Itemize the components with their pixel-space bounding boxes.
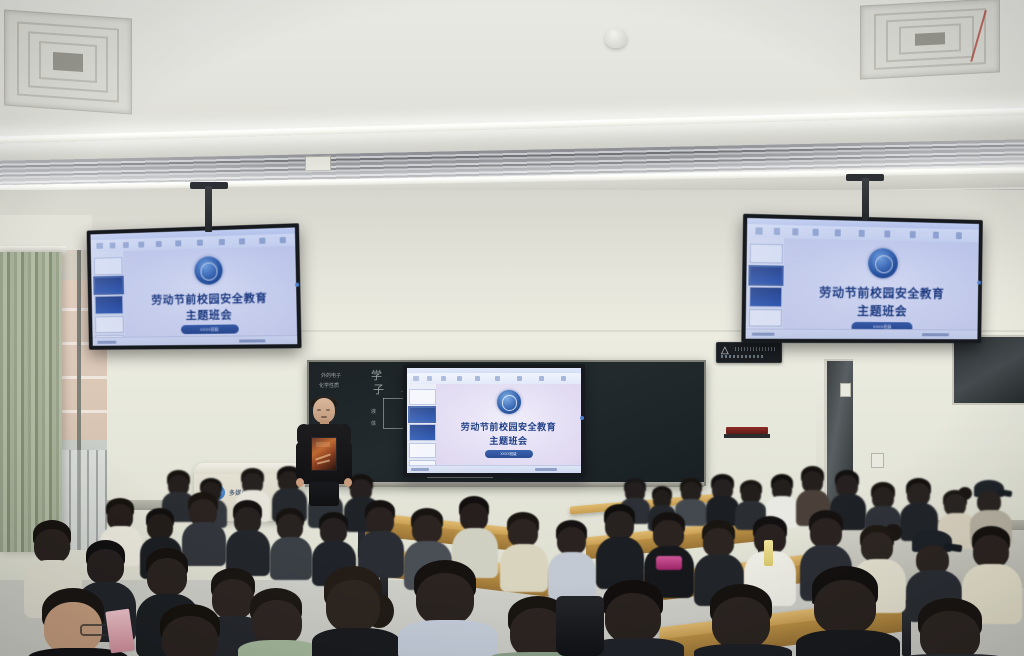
slide-thumb[interactable]: [94, 277, 123, 294]
slide-thumb[interactable]: [409, 389, 435, 405]
student: [500, 512, 546, 590]
powerpoint-status-bar-center: [407, 465, 581, 473]
display-screen-left[interactable]: 劳动节前校园安全教育 主题班会 XXXX班级: [87, 223, 302, 350]
student: [146, 604, 236, 656]
backpack: [556, 596, 604, 656]
university-emblem: [497, 390, 521, 414]
window-curtain: [0, 252, 62, 552]
student: [900, 478, 936, 538]
presenter: [295, 398, 353, 506]
powerpoint-status-bar-left: [93, 335, 298, 346]
slide-heading-line2: 主题班会: [783, 301, 978, 320]
slide-thumbnail-pane-right[interactable]: [746, 237, 785, 329]
student: [796, 566, 894, 656]
university-emblem: [194, 256, 222, 285]
slide-thumb[interactable]: [409, 443, 435, 458]
student: [312, 566, 396, 656]
student: [398, 560, 494, 656]
slide-heading-line1: 劳动节前校园安全教育: [436, 420, 581, 433]
student: [226, 500, 268, 574]
ceiling-access-panel: [305, 156, 331, 172]
slide-heading-line1: 劳动节前校园安全教育: [783, 283, 978, 302]
slide-heading-line2: 主题班会: [124, 305, 297, 324]
slide-thumb[interactable]: [749, 309, 782, 327]
slide-thumb[interactable]: [95, 316, 124, 333]
student: [358, 500, 402, 576]
smoke-detector: [605, 28, 627, 48]
student: [706, 474, 738, 524]
wall-strip-base: [724, 434, 770, 438]
slide-thumb[interactable]: [409, 407, 435, 422]
door-sign-plate: [871, 453, 884, 468]
student: [694, 584, 788, 656]
slide-thumb[interactable]: [750, 244, 783, 264]
powerpoint-window-left: 劳动节前校园安全教育 主题班会 XXXX班级: [90, 227, 297, 345]
hvac-vent-left: [4, 10, 132, 115]
shirt-graphic: [656, 556, 682, 570]
electronic-classroom-sign[interactable]: △: [716, 342, 782, 363]
presenter-shirt-graphic: [312, 438, 336, 470]
left-screen-mount-arm: [205, 186, 212, 232]
student: [596, 504, 642, 588]
slide-heading-line2: 主题班会: [436, 434, 581, 447]
slide-thumb[interactable]: [409, 424, 435, 441]
powerpoint-window-right: 劳动节前校园安全教育 主题班会 XXXX班级: [746, 218, 979, 339]
right-wall-window: [952, 335, 1024, 405]
student: [900, 598, 1000, 656]
slide-thumb[interactable]: [749, 266, 782, 285]
wall-red-strip: [726, 427, 768, 434]
display-screen-center[interactable]: 劳动节前校园安全教育 主题班会 XXXX班级: [403, 364, 585, 477]
right-screen-mount-arm: [862, 178, 869, 220]
hvac-vent-right: [860, 0, 1000, 80]
slide-thumb[interactable]: [749, 287, 782, 308]
slide-class-badge: XXXX班级: [180, 324, 238, 334]
display-screen-right[interactable]: 劳动节前校园安全教育 主题班会 XXXX班级: [741, 214, 983, 343]
slide-thumbnail-pane-left[interactable]: [91, 251, 126, 338]
powerpoint-window-center: 劳动节前校园安全教育 主题班会 XXXX班级: [407, 368, 581, 473]
slide-thumb[interactable]: [94, 257, 123, 275]
slide-stage-center: 劳动节前校园安全教育 主题班会 XXXX班级: [436, 384, 581, 466]
slide-class-badge: XXXX班级: [485, 450, 533, 458]
student: [270, 508, 310, 578]
slide-stage-right: 劳动节前校园安全教育 主题班会 XXXX班级: [783, 238, 979, 330]
slide-thumb[interactable]: [94, 295, 123, 314]
university-emblem: [868, 248, 898, 278]
slide-stage-left: 劳动节前校园安全教育 主题班会 XXXX班级: [123, 246, 297, 338]
powerpoint-status-bar-right: [746, 328, 978, 339]
door-switch-plate[interactable]: [840, 383, 851, 397]
water-bottle: [764, 540, 773, 566]
student: [238, 588, 316, 656]
classroom-photo-scene: △ 外的电子 化学性质 学 子 — 电(电离) 原子结构示意图 电 原子结构示 …: [0, 0, 1024, 656]
slide-thumbnail-pane-center[interactable]: [407, 384, 437, 466]
